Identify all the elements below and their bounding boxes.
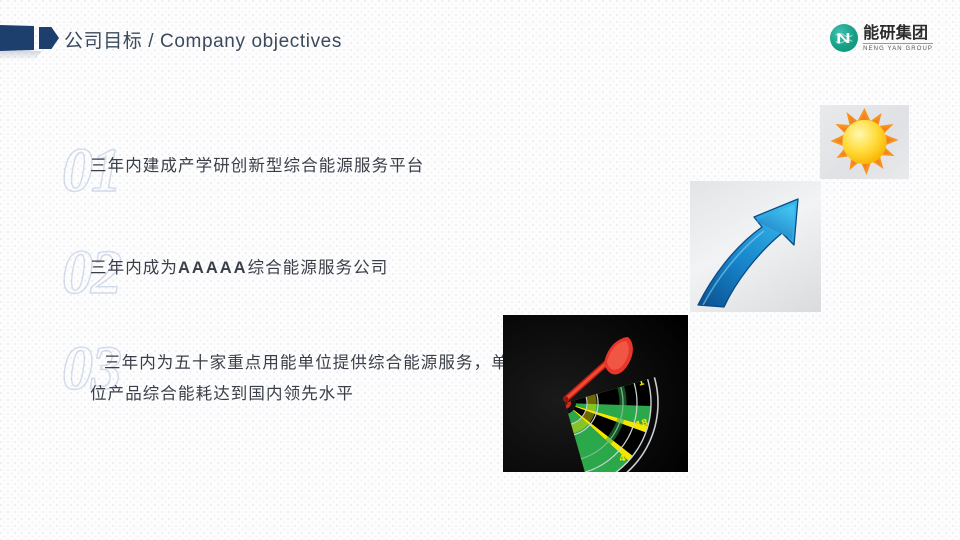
page-title: 公司目标 / Company objectives: [64, 26, 342, 53]
header-ribbon-decoration: [0, 24, 60, 54]
objective-text-02-tail: 综合能源服务公司: [248, 259, 389, 277]
slide-header: 公司目标 / Company objectives 能研集团 NENG YAN …: [0, 0, 960, 76]
dartboard-image: 20 12 5 1 18 4 13 6 10 15 9 11: [503, 315, 688, 472]
page-title-separator: /: [142, 31, 160, 52]
objective-text-01-main: 三年内建成产学研创新型综合能源服务平台: [90, 157, 424, 175]
ribbon-shadow: [0, 51, 42, 60]
logo-mark-icon: [830, 24, 858, 52]
objective-text-02-emphasis: AAAAA: [178, 259, 248, 277]
company-logo: 能研集团 NENG YAN GROUP: [830, 24, 933, 52]
rising-arrow-image: [690, 181, 821, 312]
logo-text-block: 能研集团 NENG YAN GROUP: [863, 25, 933, 52]
objective-text-02-main: 三年内成为: [90, 259, 178, 277]
objective-text-03-main: 三年内为五十家重点用能单位提供综合能源服务，单位产品综合能耗达到国内领先水平: [90, 354, 509, 403]
logo-name-cn: 能研集团: [863, 25, 933, 41]
objective-text-02: 三年内成为AAAAA综合能源服务公司: [90, 253, 510, 284]
page-title-en: Company objectives: [160, 31, 342, 52]
slide-canvas: 公司目标 / Company objectives 能研集团 NENG YAN …: [0, 0, 960, 540]
objective-text-03: 三年内为五十家重点用能单位提供综合能源服务，单位产品综合能耗达到国内领先水平: [90, 348, 510, 410]
page-title-cn: 公司目标: [64, 31, 142, 52]
objective-text-01: 三年内建成产学研创新型综合能源服务平台: [90, 151, 510, 182]
sun-image: [820, 105, 909, 179]
ribbon-bar-icon: [0, 25, 34, 51]
ribbon-chevron-icon: [39, 27, 59, 49]
logo-name-en: NENG YAN GROUP: [863, 43, 933, 52]
